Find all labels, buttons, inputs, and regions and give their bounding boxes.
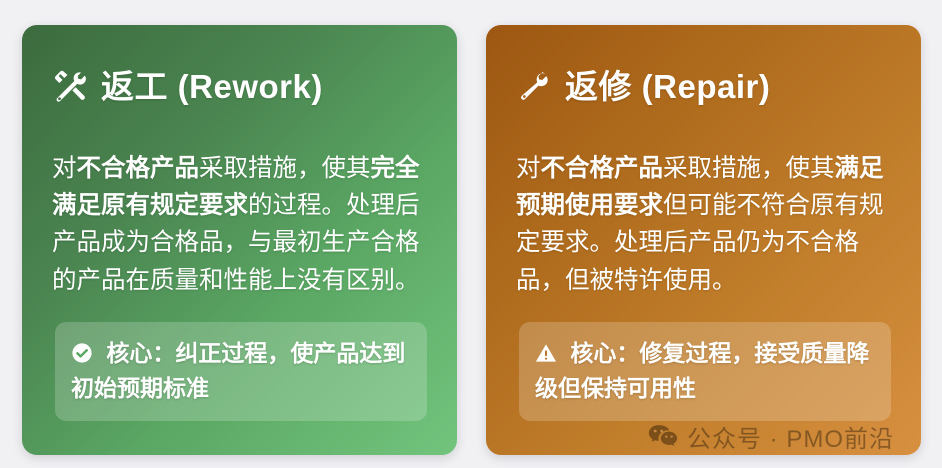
body-segment: 采取措施，使其 (199, 155, 371, 182)
card-rework-inner: 返工 (Rework) 对不合格产品采取措施，使其完全满足原有规定要求的过程。处… (22, 25, 457, 455)
watermark: 公众号 · PMO前沿 (648, 419, 894, 454)
tools-icon (52, 68, 88, 104)
card-repair-inner: 返修 (Repair) 对不合格产品采取措施，使其满足预期使用要求但可能不符合原… (486, 25, 921, 455)
slide-canvas: 返工 (Rework) 对不合格产品采取措施，使其完全满足原有规定要求的过程。处… (0, 0, 942, 468)
wechat-icon (648, 424, 678, 450)
card-rework-body: 对不合格产品采取措施，使其完全满足原有规定要求的过程。处理后产品成为合格品，与最… (52, 150, 430, 299)
body-segment: 不合格产品 (541, 155, 664, 182)
card-rework-callout: 核心：纠正过程，使产品达到初始预期标准 (55, 322, 427, 421)
body-segment: 对 (52, 155, 77, 182)
card-repair-callout: 核心：修复过程，接受质量降级但保持可用性 (519, 322, 891, 421)
warning-triangle-icon (535, 342, 557, 364)
body-segment: 不合格产品 (77, 155, 200, 182)
body-segment: 采取措施，使其 (663, 155, 835, 182)
body-segment: 对 (516, 155, 541, 182)
watermark-text: 公众号 · PMO前沿 (687, 419, 894, 454)
wrench-icon (516, 68, 552, 104)
card-rework: 返工 (Rework) 对不合格产品采取措施，使其完全满足原有规定要求的过程。处… (22, 25, 457, 455)
card-rework-title: 返工 (Rework) (101, 70, 323, 103)
card-repair-body: 对不合格产品采取措施，使其满足预期使用要求但可能不符合原有规定要求。处理后产品仍… (516, 150, 894, 299)
card-repair-callout-text: 核心：修复过程，接受质量降级但保持可用性 (535, 340, 869, 401)
card-rework-header: 返工 (Rework) (52, 68, 323, 104)
check-circle-icon (71, 342, 93, 364)
card-rework-callout-text: 核心：纠正过程，使产品达到初始预期标准 (71, 340, 405, 401)
card-repair: 返修 (Repair) 对不合格产品采取措施，使其满足预期使用要求但可能不符合原… (486, 25, 921, 455)
card-repair-title: 返修 (Repair) (565, 70, 770, 103)
card-repair-header: 返修 (Repair) (516, 68, 770, 104)
